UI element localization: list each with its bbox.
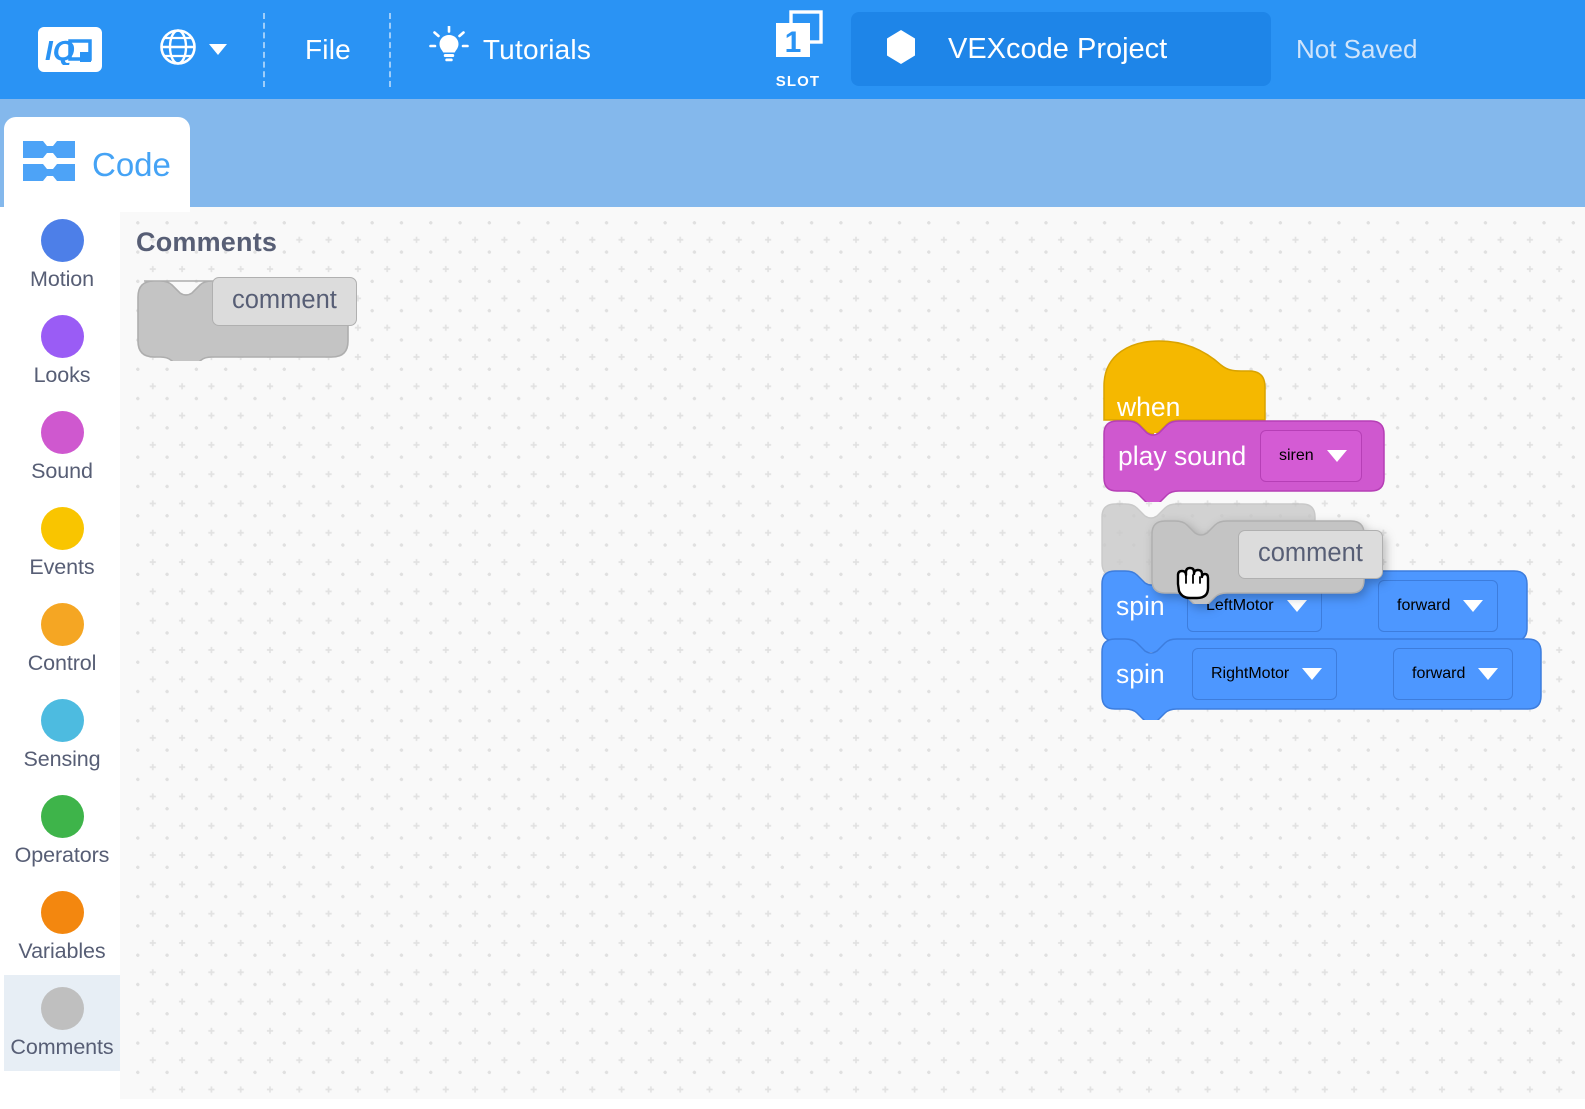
motion-category-icon <box>41 219 84 262</box>
sidebar-item-sound[interactable]: Sound <box>4 399 120 495</box>
spin-left-direction-dropdown[interactable]: forward <box>1378 580 1498 632</box>
chevron-down-icon <box>1478 668 1498 680</box>
main-toolbar: IQ File <box>0 0 1585 99</box>
sidebar-item-control[interactable]: Control <box>4 591 120 687</box>
spin-right-direction-value: forward <box>1412 665 1465 683</box>
sidebar-label-control: Control <box>28 651 97 676</box>
sidebar-item-events[interactable]: Events <box>4 495 120 591</box>
palette-title: Comments <box>136 227 277 258</box>
spin-right-label: spin <box>1116 659 1165 690</box>
sensing-category-icon <box>41 699 84 742</box>
sidebar-item-operators[interactable]: Operators <box>4 783 120 879</box>
sidebar-item-comments[interactable]: Comments <box>4 975 120 1071</box>
sidebar-item-variables[interactable]: Variables <box>4 879 120 975</box>
comment-text-field[interactable]: comment <box>212 277 357 326</box>
tutorials-label: Tutorials <box>483 34 591 66</box>
spin-left-direction-value: forward <box>1397 597 1450 615</box>
chevron-down-icon <box>1327 450 1347 462</box>
dragged-comment-text-field[interactable]: comment <box>1238 530 1383 579</box>
variables-category-icon <box>41 891 84 934</box>
comments-category-icon <box>41 987 84 1030</box>
sidebar-item-motion[interactable]: Motion <box>4 207 120 303</box>
dragged-comment-block[interactable]: comment <box>1151 518 1367 609</box>
tab-code[interactable]: Code <box>4 117 190 212</box>
palette-comment-block[interactable]: comment <box>136 279 357 326</box>
sidebar-label-motion: Motion <box>30 267 94 292</box>
spin-right-device-dropdown[interactable]: RightMotor <box>1192 648 1337 700</box>
sidebar-label-sensing: Sensing <box>24 747 101 772</box>
vexcode-app-window: Comments comment when started play sound… <box>0 0 1585 1109</box>
control-category-icon <box>41 603 84 646</box>
sidebar-label-variables: Variables <box>18 939 105 964</box>
tutorials-button[interactable]: Tutorials <box>429 26 591 73</box>
looks-category-icon <box>41 315 84 358</box>
secondary-header-band <box>0 99 1585 207</box>
sidebar-label-operators: Operators <box>15 843 110 868</box>
blocks-workspace[interactable]: Comments comment when started play sound… <box>120 207 1585 1099</box>
language-selector[interactable] <box>158 27 227 72</box>
slot-selector[interactable]: 1 SLOT <box>766 9 830 90</box>
slot-label: SLOT <box>776 73 820 90</box>
sidebar-label-events: Events <box>29 555 94 580</box>
toolbar-divider-2 <box>389 13 391 87</box>
sound-dropdown-value: siren <box>1279 447 1314 465</box>
file-menu-button[interactable]: File <box>305 34 351 66</box>
spin-right-device-value: RightMotor <box>1211 665 1289 683</box>
sidebar-item-sensing[interactable]: Sensing <box>4 687 120 783</box>
lightbulb-icon <box>429 26 469 73</box>
sidebar-label-comments: Comments <box>10 1035 113 1060</box>
save-status-text: Not Saved <box>1296 34 1417 65</box>
hexagon-icon <box>884 28 918 71</box>
chevron-down-icon <box>209 44 227 55</box>
slot-pages-icon: 1 <box>769 9 827 70</box>
events-category-icon <box>41 507 84 550</box>
block-spin-right-motor[interactable]: spin RightMotor forward <box>1101 638 1543 725</box>
project-name-text: VEXcode Project <box>948 33 1167 66</box>
operators-category-icon <box>41 795 84 838</box>
vex-iq-logo-icon[interactable]: IQ <box>38 27 102 72</box>
sidebar-label-sound: Sound <box>31 459 93 484</box>
sidebar-item-looks[interactable]: Looks <box>4 303 120 399</box>
sound-dropdown[interactable]: siren <box>1260 430 1362 482</box>
play-sound-label: play sound <box>1118 441 1246 472</box>
chevron-down-icon <box>1463 600 1483 612</box>
toolbar-divider-1 <box>263 13 265 87</box>
sound-category-icon <box>41 411 84 454</box>
slot-number-text: 1 <box>785 26 802 59</box>
block-category-sidebar[interactable]: Motion Looks Sound Events Control Sensin… <box>4 207 120 1097</box>
chevron-down-icon <box>1302 668 1322 680</box>
tab-code-label: Code <box>92 146 171 184</box>
code-blocks-icon <box>21 138 77 191</box>
project-name-chip[interactable]: VEXcode Project <box>851 12 1271 86</box>
globe-icon <box>158 27 198 72</box>
sidebar-label-looks: Looks <box>34 363 91 388</box>
spin-right-direction-dropdown[interactable]: forward <box>1393 648 1513 700</box>
block-play-sound[interactable]: play sound siren <box>1103 420 1386 507</box>
